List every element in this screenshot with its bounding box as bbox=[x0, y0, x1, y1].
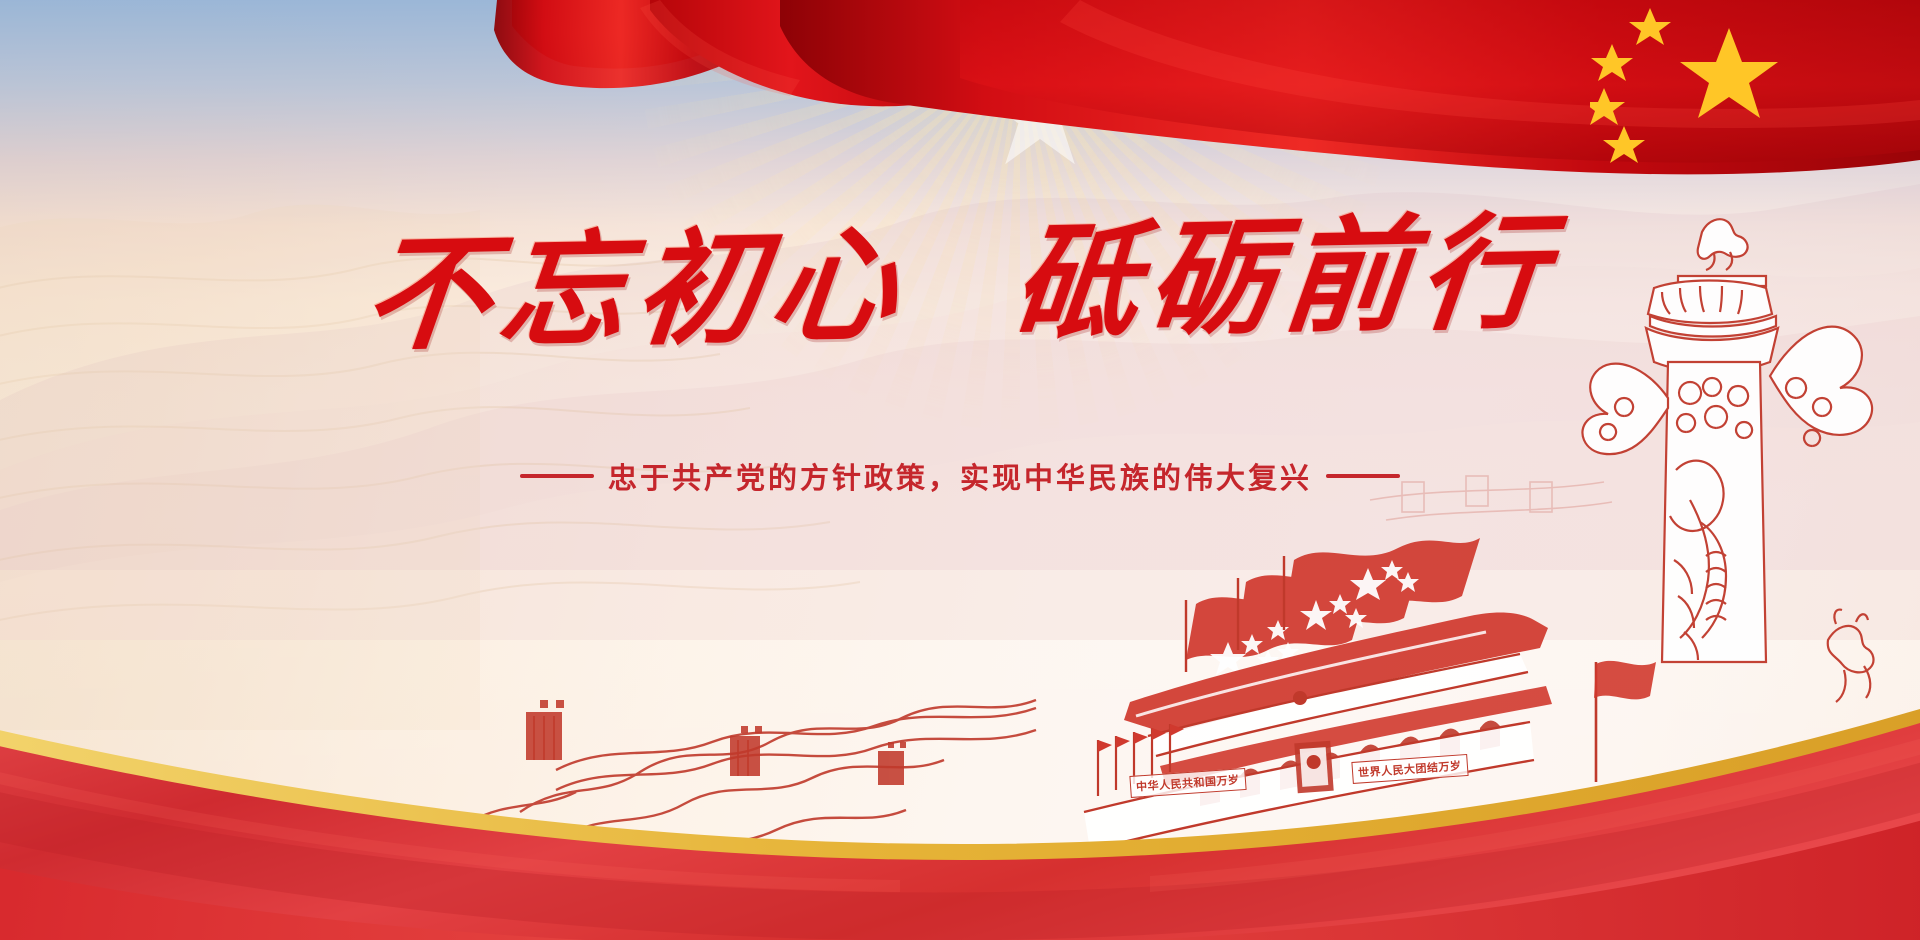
red-ribbon-icon bbox=[0, 640, 1920, 940]
small-star-icon bbox=[1591, 44, 1633, 81]
subtitle-text: 忠于共产党的方针政策，实现中华民族的伟大复兴 bbox=[608, 455, 1312, 497]
subtitle-dash-right bbox=[1326, 474, 1400, 478]
large-star-icon bbox=[1680, 28, 1778, 118]
chinese-flag-icon bbox=[1590, 0, 1920, 190]
small-star-icon bbox=[1590, 88, 1625, 125]
small-star-icon bbox=[1603, 126, 1645, 163]
poster-canvas: 不忘初心 砥砺前行 忠于共产党的方针政策，实现中华民族的伟大复兴 中华人民共和国… bbox=[0, 0, 1920, 940]
small-star-icon bbox=[1629, 8, 1671, 45]
subtitle-row: 忠于共产党的方针政策，实现中华民族的伟大复兴 bbox=[0, 455, 1920, 497]
subtitle-dash-left bbox=[520, 474, 594, 478]
